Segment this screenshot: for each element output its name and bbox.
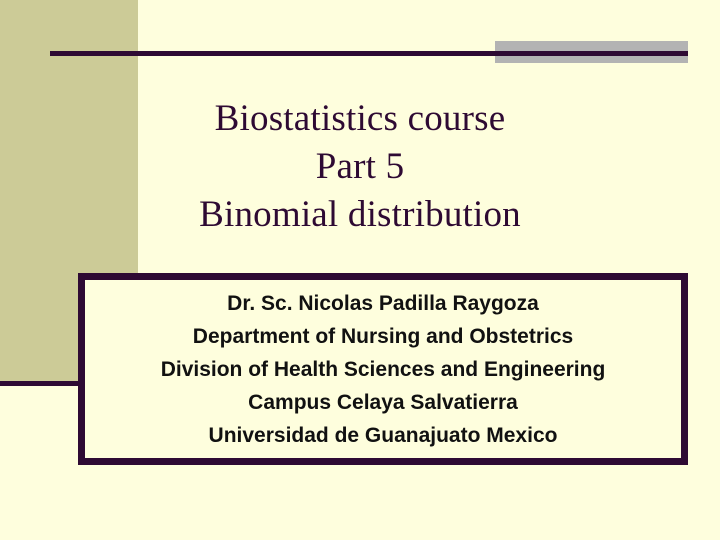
presentation-slide: Biostatistics course Part 5 Binomial dis… — [0, 0, 720, 540]
subtitle-line-campus: Campus Celaya Salvatierra — [85, 386, 681, 419]
subtitle-line-division: Division of Health Sciences and Engineer… — [85, 353, 681, 386]
top-horizontal-rule — [50, 51, 688, 56]
title-line-3: Binomial distribution — [0, 191, 720, 239]
title-line-2: Part 5 — [0, 143, 720, 191]
subtitle-line-department: Department of Nursing and Obstetrics — [85, 320, 681, 353]
left-horizontal-rule — [0, 381, 78, 386]
title-line-1: Biostatistics course — [0, 95, 720, 143]
slide-title: Biostatistics course Part 5 Binomial dis… — [0, 95, 720, 239]
subtitle-line-author: Dr. Sc. Nicolas Padilla Raygoza — [85, 287, 681, 320]
subtitle-box: Dr. Sc. Nicolas Padilla Raygoza Departme… — [78, 273, 688, 465]
subtitle-line-university: Universidad de Guanajuato Mexico — [85, 419, 681, 452]
